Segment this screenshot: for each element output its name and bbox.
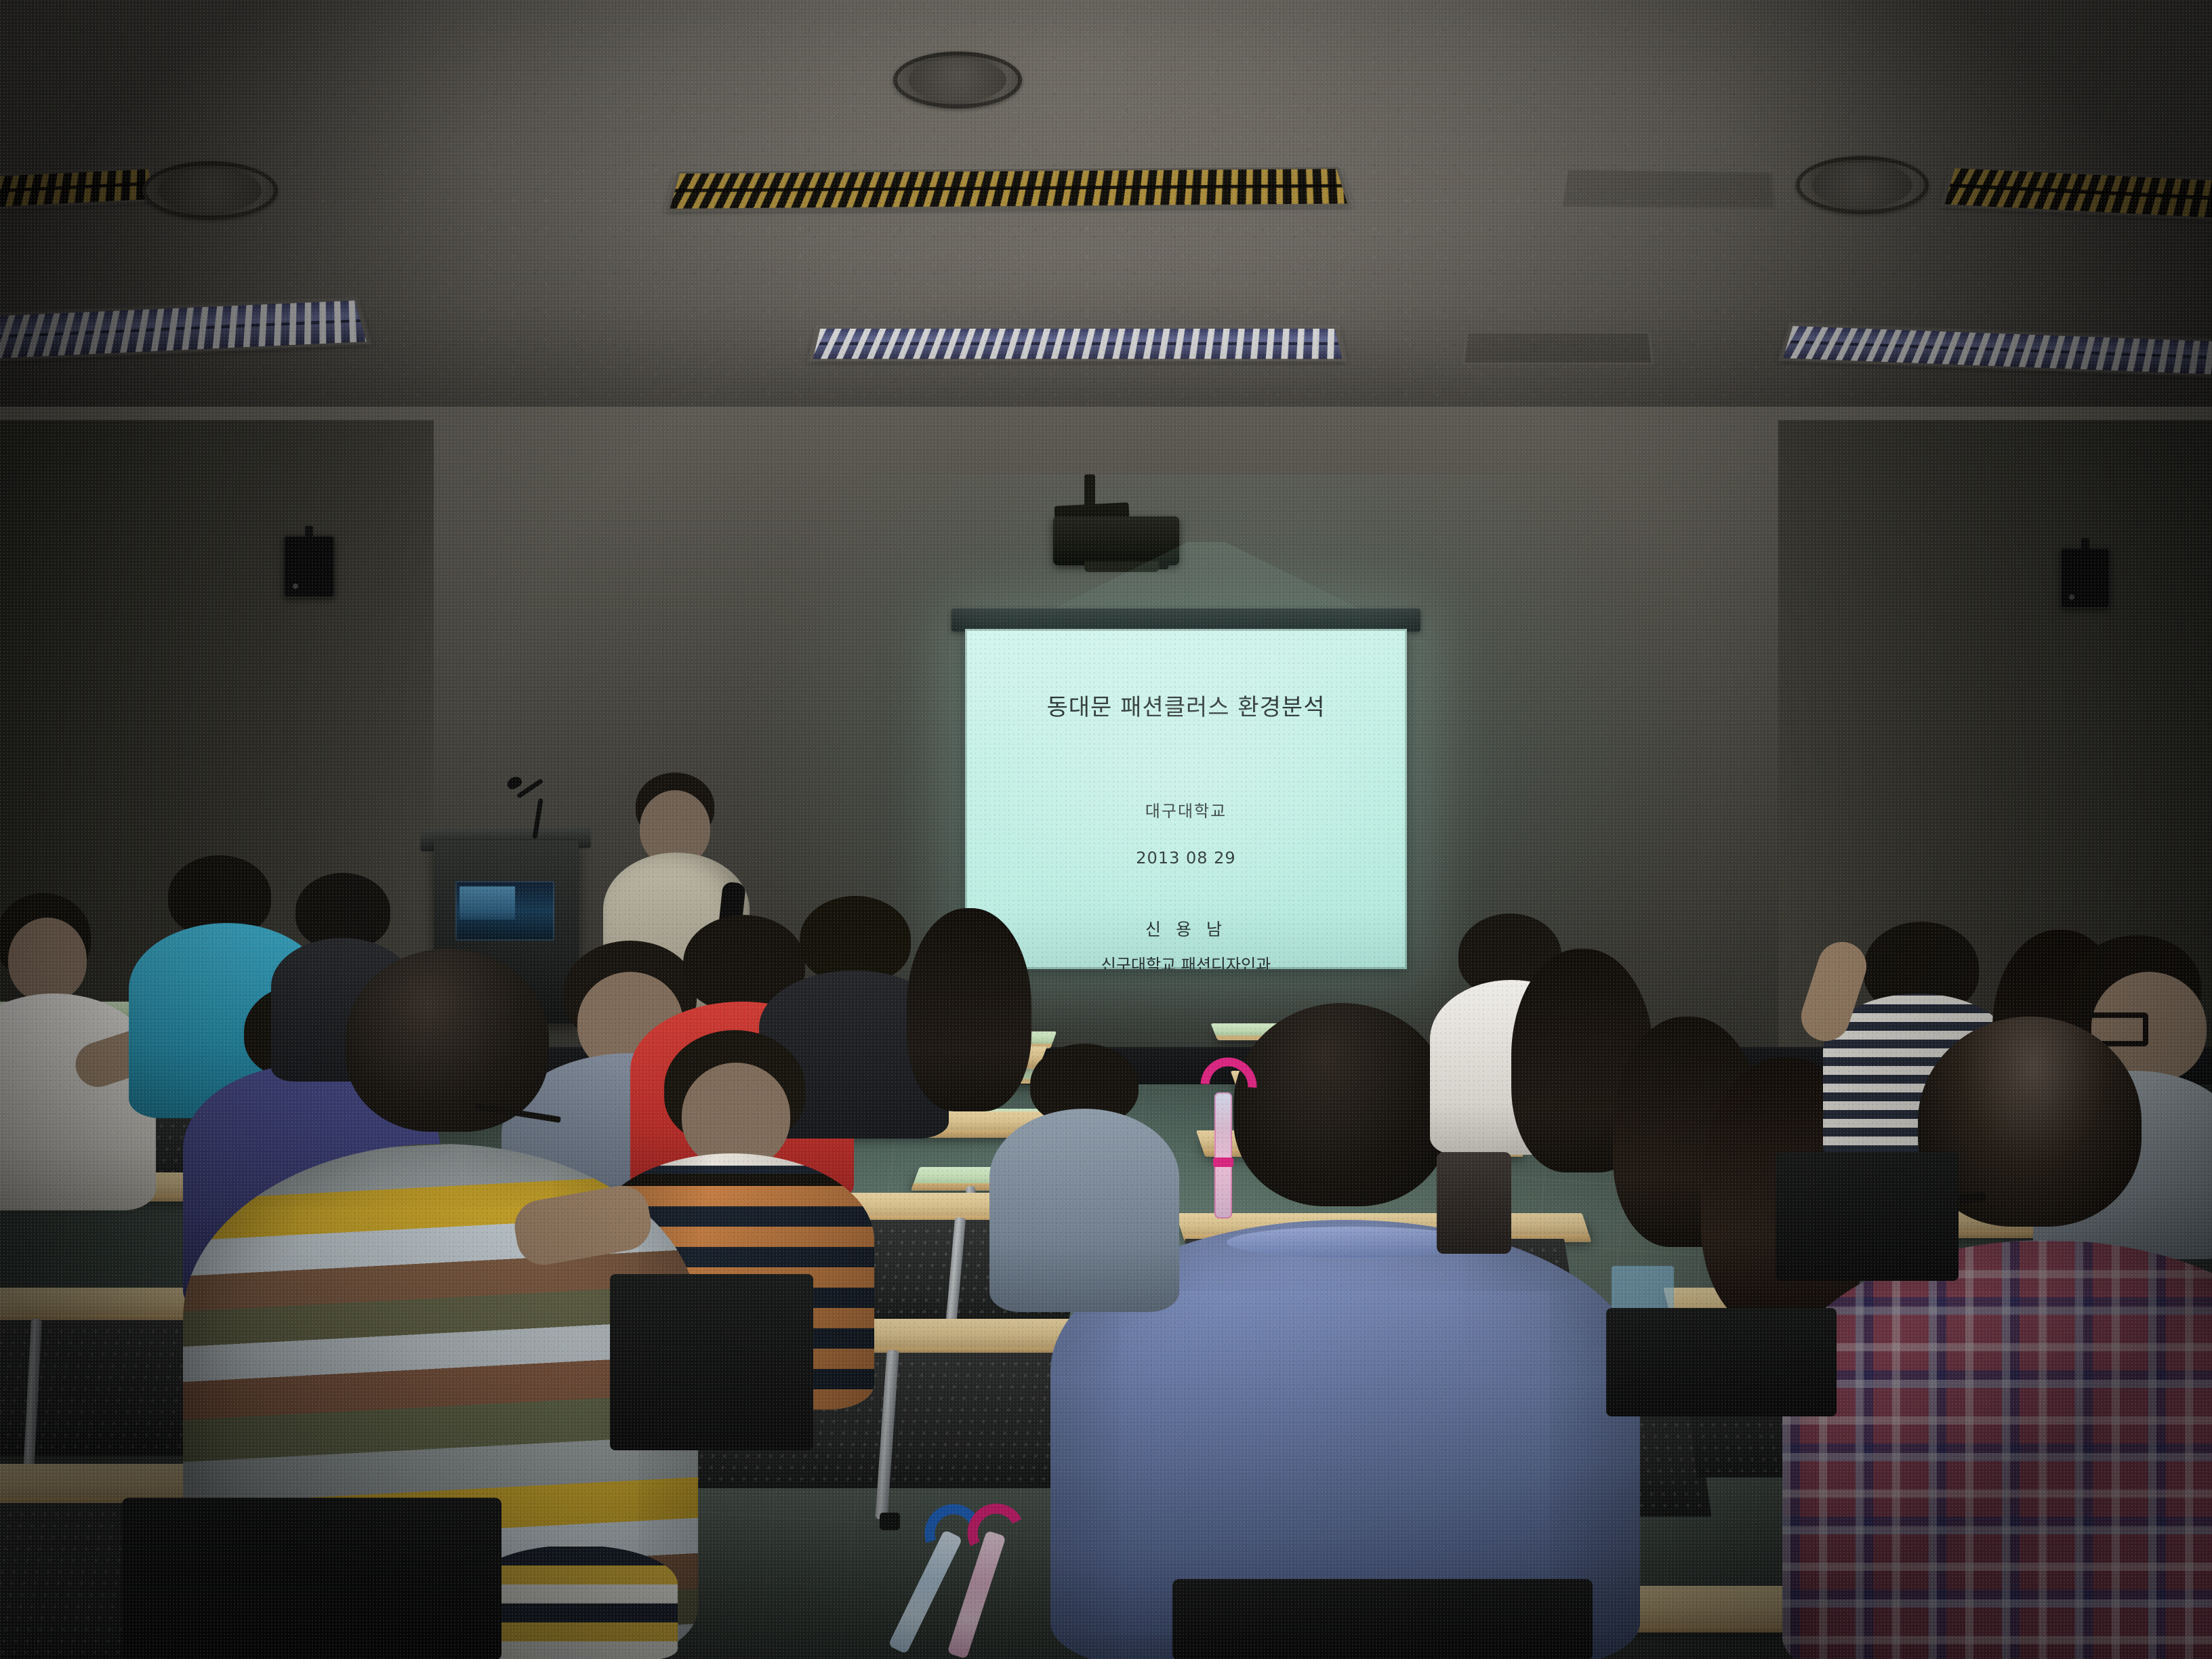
slide-title: 동대문 패션클러스 환경분석 — [1047, 689, 1326, 722]
slide-presenter: 신 용 남 — [1145, 916, 1227, 941]
audience-person-denim-shirt — [989, 1044, 1179, 1315]
umbrella-band — [1213, 1158, 1233, 1167]
person-torso — [989, 1109, 1179, 1312]
lecture-hall-photo: 동대문 패션클러스 환경분석 대구대학교 2013 08 29 신 용 남 신구… — [0, 0, 2212, 1659]
audience-person-bottom-left-partial — [474, 1545, 678, 1659]
slide-affiliation-1: 신구대학교 패션디자인과 — [1101, 951, 1271, 969]
handbag — [1437, 1152, 1511, 1254]
wall-speaker-left — [283, 535, 335, 598]
desk-caster-center-8 — [880, 1513, 900, 1530]
chair-right-mid — [1606, 1308, 1837, 1416]
wall-speaker-right — [2060, 548, 2110, 609]
chair-center-mid — [610, 1274, 813, 1450]
slide-organization: 대구대학교 — [1145, 798, 1227, 821]
chair-center-front — [1172, 1579, 1593, 1659]
umbrella-canopy — [1214, 1092, 1232, 1218]
person-head — [682, 1063, 790, 1168]
chair-left-front — [122, 1498, 501, 1659]
chair-right-back — [1776, 1152, 1959, 1281]
audience-person-plaid-shirt — [1830, 1017, 2212, 1659]
person-hair — [346, 949, 549, 1132]
umbrella-hanging-on-desk — [1200, 1057, 1261, 1240]
person-torso — [1782, 1240, 2212, 1659]
person-head — [8, 918, 87, 1002]
lectern-monitor — [455, 881, 554, 941]
screen-housing — [951, 609, 1420, 632]
person-hair — [1233, 1003, 1450, 1206]
slide-date: 2013 08 29 — [1136, 848, 1235, 867]
ceiling-projector — [1053, 516, 1179, 565]
person-torso — [474, 1545, 678, 1659]
projector-base — [1084, 561, 1159, 572]
